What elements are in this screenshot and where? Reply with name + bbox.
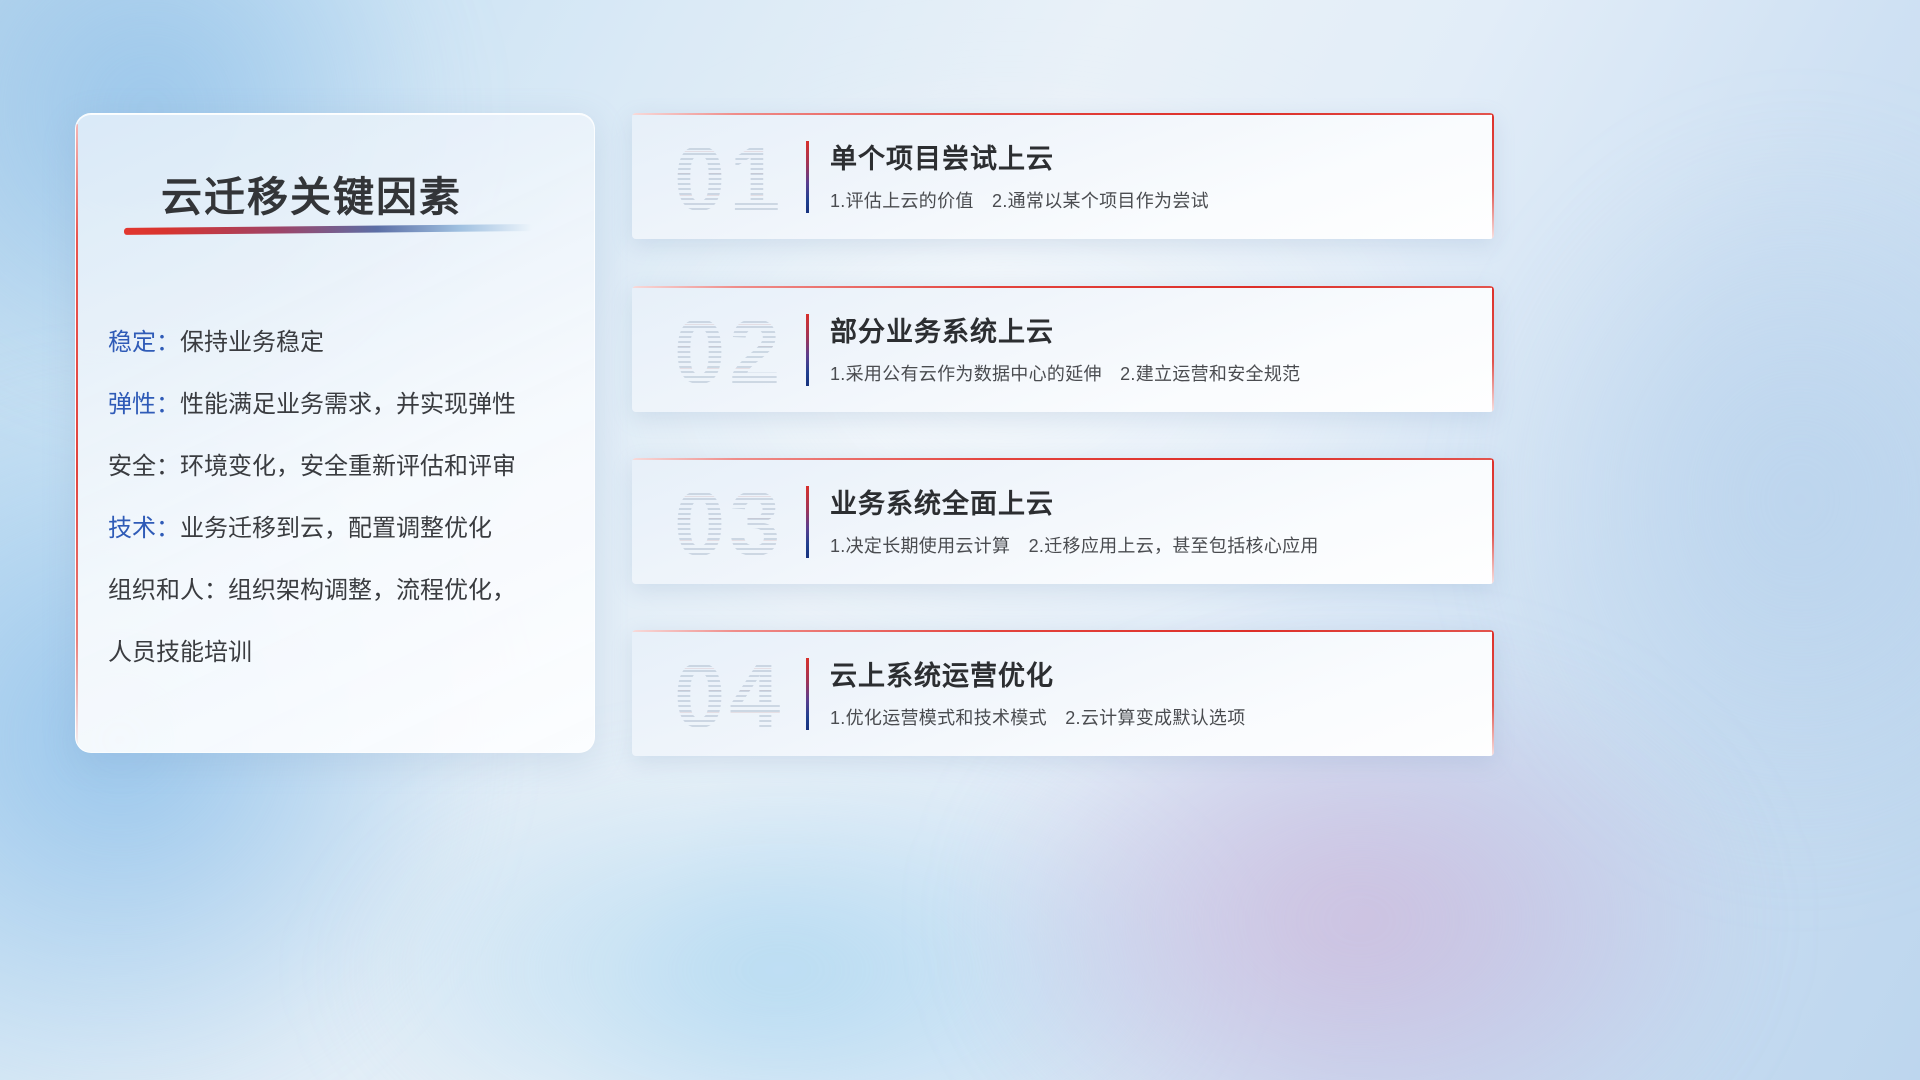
step-title: 云上系统运营优化 — [830, 654, 1054, 693]
step-card[interactable]: 01 01 单个项目尝试上云 1.评估上云的价值 2.通常以某个项目作为尝试 — [632, 113, 1494, 239]
key-factor-row: 弹性：性能满足业务需求，并实现弹性 — [108, 374, 578, 436]
key-factor-row: 组织和人：组织架构调整，流程优化， — [108, 560, 578, 622]
key-factor-text: 性能满足业务需求，并实现弹性 — [180, 391, 516, 418]
step-card[interactable]: 03 03 业务系统全面上云 1.决定长期使用云计算 2.迁移应用上云，甚至包括… — [632, 458, 1494, 584]
card-top-accent — [632, 458, 1494, 460]
step-title: 部分业务系统上云 — [830, 310, 1054, 349]
card-right-accent — [1492, 458, 1494, 584]
key-factor-row: 安全：环境变化，安全重新评估和评审 — [108, 436, 578, 498]
key-factor-label: 技术： — [108, 515, 180, 542]
key-factor-label: 稳定： — [108, 329, 180, 356]
key-factor-row: 人员技能培训 — [108, 622, 578, 684]
step-subtitle: 1.优化运营模式和技术模式 2.云计算变成默认选项 — [830, 704, 1246, 730]
panel-red-edge-accent — [76, 124, 78, 753]
card-divider-accent — [806, 486, 809, 558]
card-divider-accent — [806, 314, 809, 386]
step-title: 单个项目尝试上云 — [830, 137, 1054, 176]
slide-stage: 云迁移关键因素 稳定：保持业务稳定弹性：性能满足业务需求，并实现弹性安全：环境变… — [0, 0, 1920, 1080]
key-factor-text: 人员技能培训 — [108, 639, 252, 666]
card-divider-accent — [806, 658, 809, 730]
key-factors-panel: 云迁移关键因素 稳定：保持业务稳定弹性：性能满足业务需求，并实现弹性安全：环境变… — [75, 113, 595, 753]
page-title: 云迁移关键因素 — [161, 163, 462, 223]
card-right-accent — [1492, 113, 1494, 239]
card-top-accent — [632, 113, 1494, 115]
key-factor-text: 保持业务稳定 — [180, 329, 324, 356]
key-factor-text: 环境变化，安全重新评估和评审 — [180, 453, 516, 480]
card-right-accent — [1492, 630, 1494, 756]
key-factor-label: 弹性： — [108, 391, 180, 418]
card-top-accent — [632, 286, 1494, 288]
key-factor-text: 业务迁移到云，配置调整优化 — [180, 515, 492, 542]
key-factor-text: 组织架构调整，流程优化， — [228, 577, 516, 604]
title-underline-accent — [124, 224, 532, 235]
step-card[interactable]: 02 02 部分业务系统上云 1.采用公有云作为数据中心的延伸 2.建立运营和安… — [632, 286, 1494, 412]
key-factor-label: 安全： — [108, 453, 180, 480]
card-divider-accent — [806, 141, 809, 213]
card-right-accent — [1492, 286, 1494, 412]
step-title: 业务系统全面上云 — [830, 482, 1054, 521]
step-subtitle: 1.采用公有云作为数据中心的延伸 2.建立运营和安全规范 — [830, 360, 1300, 386]
key-factors-list: 稳定：保持业务稳定弹性：性能满足业务需求，并实现弹性安全：环境变化，安全重新评估… — [108, 312, 578, 684]
key-factor-row: 稳定：保持业务稳定 — [108, 312, 578, 374]
step-card[interactable]: 04 04 云上系统运营优化 1.优化运营模式和技术模式 2.云计算变成默认选项 — [632, 630, 1494, 756]
step-subtitle: 1.评估上云的价值 2.通常以某个项目作为尝试 — [830, 187, 1209, 213]
card-top-accent — [632, 630, 1494, 632]
step-subtitle: 1.决定长期使用云计算 2.迁移应用上云，甚至包括核心应用 — [830, 532, 1319, 558]
key-factor-row: 技术：业务迁移到云，配置调整优化 — [108, 498, 578, 560]
key-factor-label: 组织和人： — [108, 577, 228, 604]
